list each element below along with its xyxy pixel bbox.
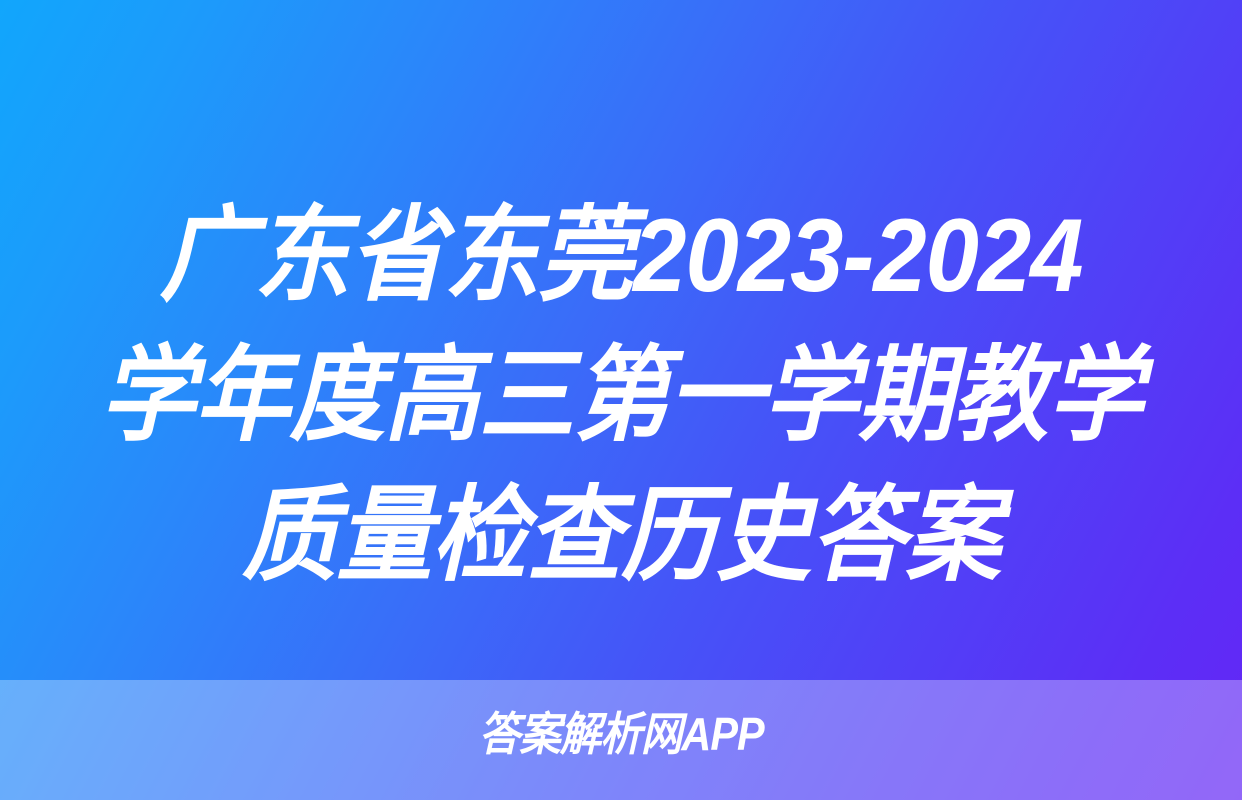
title-block: 广东省东莞2023-2024 学年度高三第一学期教学 质量检查历史答案	[0, 186, 1242, 606]
title-line-1: 广东省东莞2023-2024	[50, 186, 1193, 326]
watermark-label: 答案解析网APP	[479, 708, 764, 760]
cover-card: 广东省东莞2023-2024 学年度高三第一学期教学 质量检查历史答案 答案解析…	[0, 0, 1242, 800]
title-line-2: 学年度高三第一学期教学	[50, 326, 1193, 466]
title-line-3: 质量检查历史答案	[50, 466, 1193, 606]
watermark: 答案解析网APP	[0, 708, 1242, 760]
